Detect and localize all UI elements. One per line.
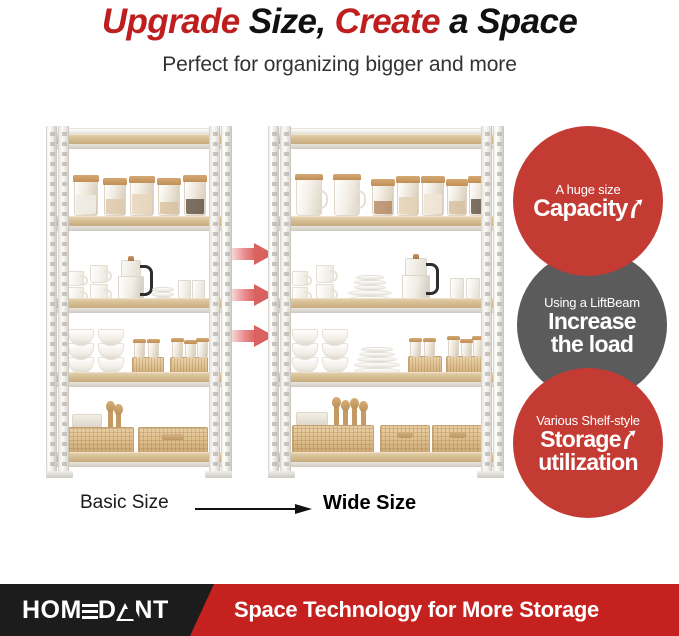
page-title: Upgrade Size, Create a Space (0, 2, 679, 42)
shelf-board-4 (49, 372, 229, 383)
liftbeam-badge-title-line2: the load (551, 333, 634, 356)
post-perforations (284, 132, 289, 472)
storage-utilization-badge[interactable]: Various Shelf-style Storage utilization (513, 368, 663, 518)
shelf-contents-mugs (290, 248, 484, 302)
page-subtitle: Perfect for organizing bigger and more (0, 52, 679, 78)
large-basket-item (292, 425, 374, 454)
shelf-board-1 (271, 134, 501, 145)
post-perforations (497, 132, 502, 472)
curved-up-arrow-icon (622, 430, 636, 450)
logo-part-1: HOM (22, 596, 82, 624)
logo-e-glyph-icon (82, 603, 98, 621)
wide-size-shelf-unit (268, 126, 504, 478)
mug-item (90, 265, 108, 283)
shelf-contents-baskets (66, 402, 212, 454)
title-word-create: Create (335, 2, 440, 41)
jar-item (397, 181, 419, 216)
capacity-badge[interactable]: A huge size Capacity (513, 126, 663, 276)
feature-badges: A huge size Capacity Using a LiftBeam In… (505, 126, 679, 508)
shelf-foot-right (217, 471, 232, 478)
moka-pot-item (118, 254, 144, 302)
post-perforations (213, 132, 218, 472)
jar-item (184, 180, 206, 216)
shelf-post-right-inner (481, 126, 492, 478)
capacity-badge-title: Capacity (533, 197, 642, 221)
shelf-post-left (268, 126, 279, 478)
jar-item (134, 342, 145, 358)
jar-item (130, 181, 154, 216)
shelf-board-3 (271, 298, 501, 309)
liftbeam-badge-title: Increase (548, 310, 636, 333)
mug-item (292, 271, 308, 286)
jar-item (185, 343, 196, 358)
jar-item (447, 184, 467, 216)
mug-item (68, 271, 84, 286)
bowl-stack-item (322, 330, 348, 374)
shelf-foot-left-inner (280, 471, 295, 478)
bowl-stack-item (68, 332, 94, 374)
jar-item (104, 183, 126, 216)
footer-bar: HOMDNT Space Technology for More Storage (0, 584, 679, 636)
shelf-board-1 (49, 134, 229, 145)
logo-part-2: D (98, 596, 117, 624)
large-basket-item (68, 427, 134, 454)
curved-up-arrow-icon (629, 199, 643, 219)
post-perforations (485, 132, 490, 472)
size-comparison-labels: Basic Size Wide Size (40, 492, 480, 520)
shelf-contents-jars (292, 164, 482, 216)
bowl-stack-item (292, 330, 318, 374)
title-word-upgrade: Upgrade (102, 2, 240, 41)
shelf-post-left (46, 126, 57, 478)
title-word-size: Size, (240, 2, 335, 41)
shelf-post-left-inner (58, 126, 69, 478)
large-basket-item (138, 427, 208, 454)
jar-item (74, 180, 98, 216)
storage-badge-title: Storage (540, 428, 636, 451)
basic-size-shelf-unit (46, 126, 232, 478)
shelf-board-2 (271, 216, 501, 227)
brand-logo: HOMDNT (22, 597, 169, 623)
storage-badge-title-line2: utilization (538, 451, 638, 474)
shelf-foot-right (489, 471, 504, 478)
shelf-post-right-inner (209, 126, 220, 478)
large-basket-item (380, 425, 430, 454)
large-basket-item (432, 425, 484, 454)
bowl-stack-item (98, 332, 124, 374)
shelf-post-left-inner (280, 126, 291, 478)
shelf-board-5 (49, 452, 229, 463)
shelf-board-5 (271, 452, 501, 463)
wide-size-label: Wide Size (323, 492, 416, 515)
jar-item (197, 341, 208, 358)
pitcher-item (296, 178, 322, 216)
shelf-board-3 (49, 298, 229, 309)
title-word-space: a Space (440, 2, 577, 41)
shelf-contents-bowls (66, 326, 212, 374)
jar-item (410, 341, 421, 357)
shelf-contents-bowls (290, 324, 484, 374)
jar-item (158, 183, 180, 216)
shelf-post-right (493, 126, 504, 478)
post-perforations (272, 132, 277, 472)
logo-a-glyph-icon (116, 603, 134, 621)
jar-item (448, 339, 459, 357)
jar-item (424, 341, 435, 357)
size-transition-arrow-icon (195, 504, 315, 514)
shelf-contents-jars (68, 166, 210, 216)
jar-item (422, 181, 444, 216)
folded-cloth-item (72, 414, 102, 428)
shelf-board-4 (271, 372, 501, 383)
header: Upgrade Size, Create a Space Perfect for… (0, 0, 679, 96)
shelf-post-right (221, 126, 232, 478)
moka-pot-item (402, 252, 430, 302)
post-perforations (50, 132, 55, 472)
post-perforations (62, 132, 67, 472)
footer-tagline: Space Technology for More Storage (234, 596, 599, 624)
basic-size-label: Basic Size (80, 492, 169, 514)
shelf-contents-baskets (290, 400, 484, 454)
post-perforations (225, 132, 230, 472)
jar-item (372, 184, 394, 216)
jar-item (172, 341, 183, 358)
shelf-board-2 (49, 216, 229, 227)
folded-cloth-item (296, 412, 328, 426)
shelf-contents-mugs (66, 250, 212, 302)
pitcher-item (334, 178, 360, 216)
jar-item (461, 342, 472, 357)
jar-item (148, 342, 159, 358)
mug-item (316, 265, 334, 283)
plate-stack-item (354, 344, 400, 374)
shelf-foot-left-inner (58, 471, 73, 478)
